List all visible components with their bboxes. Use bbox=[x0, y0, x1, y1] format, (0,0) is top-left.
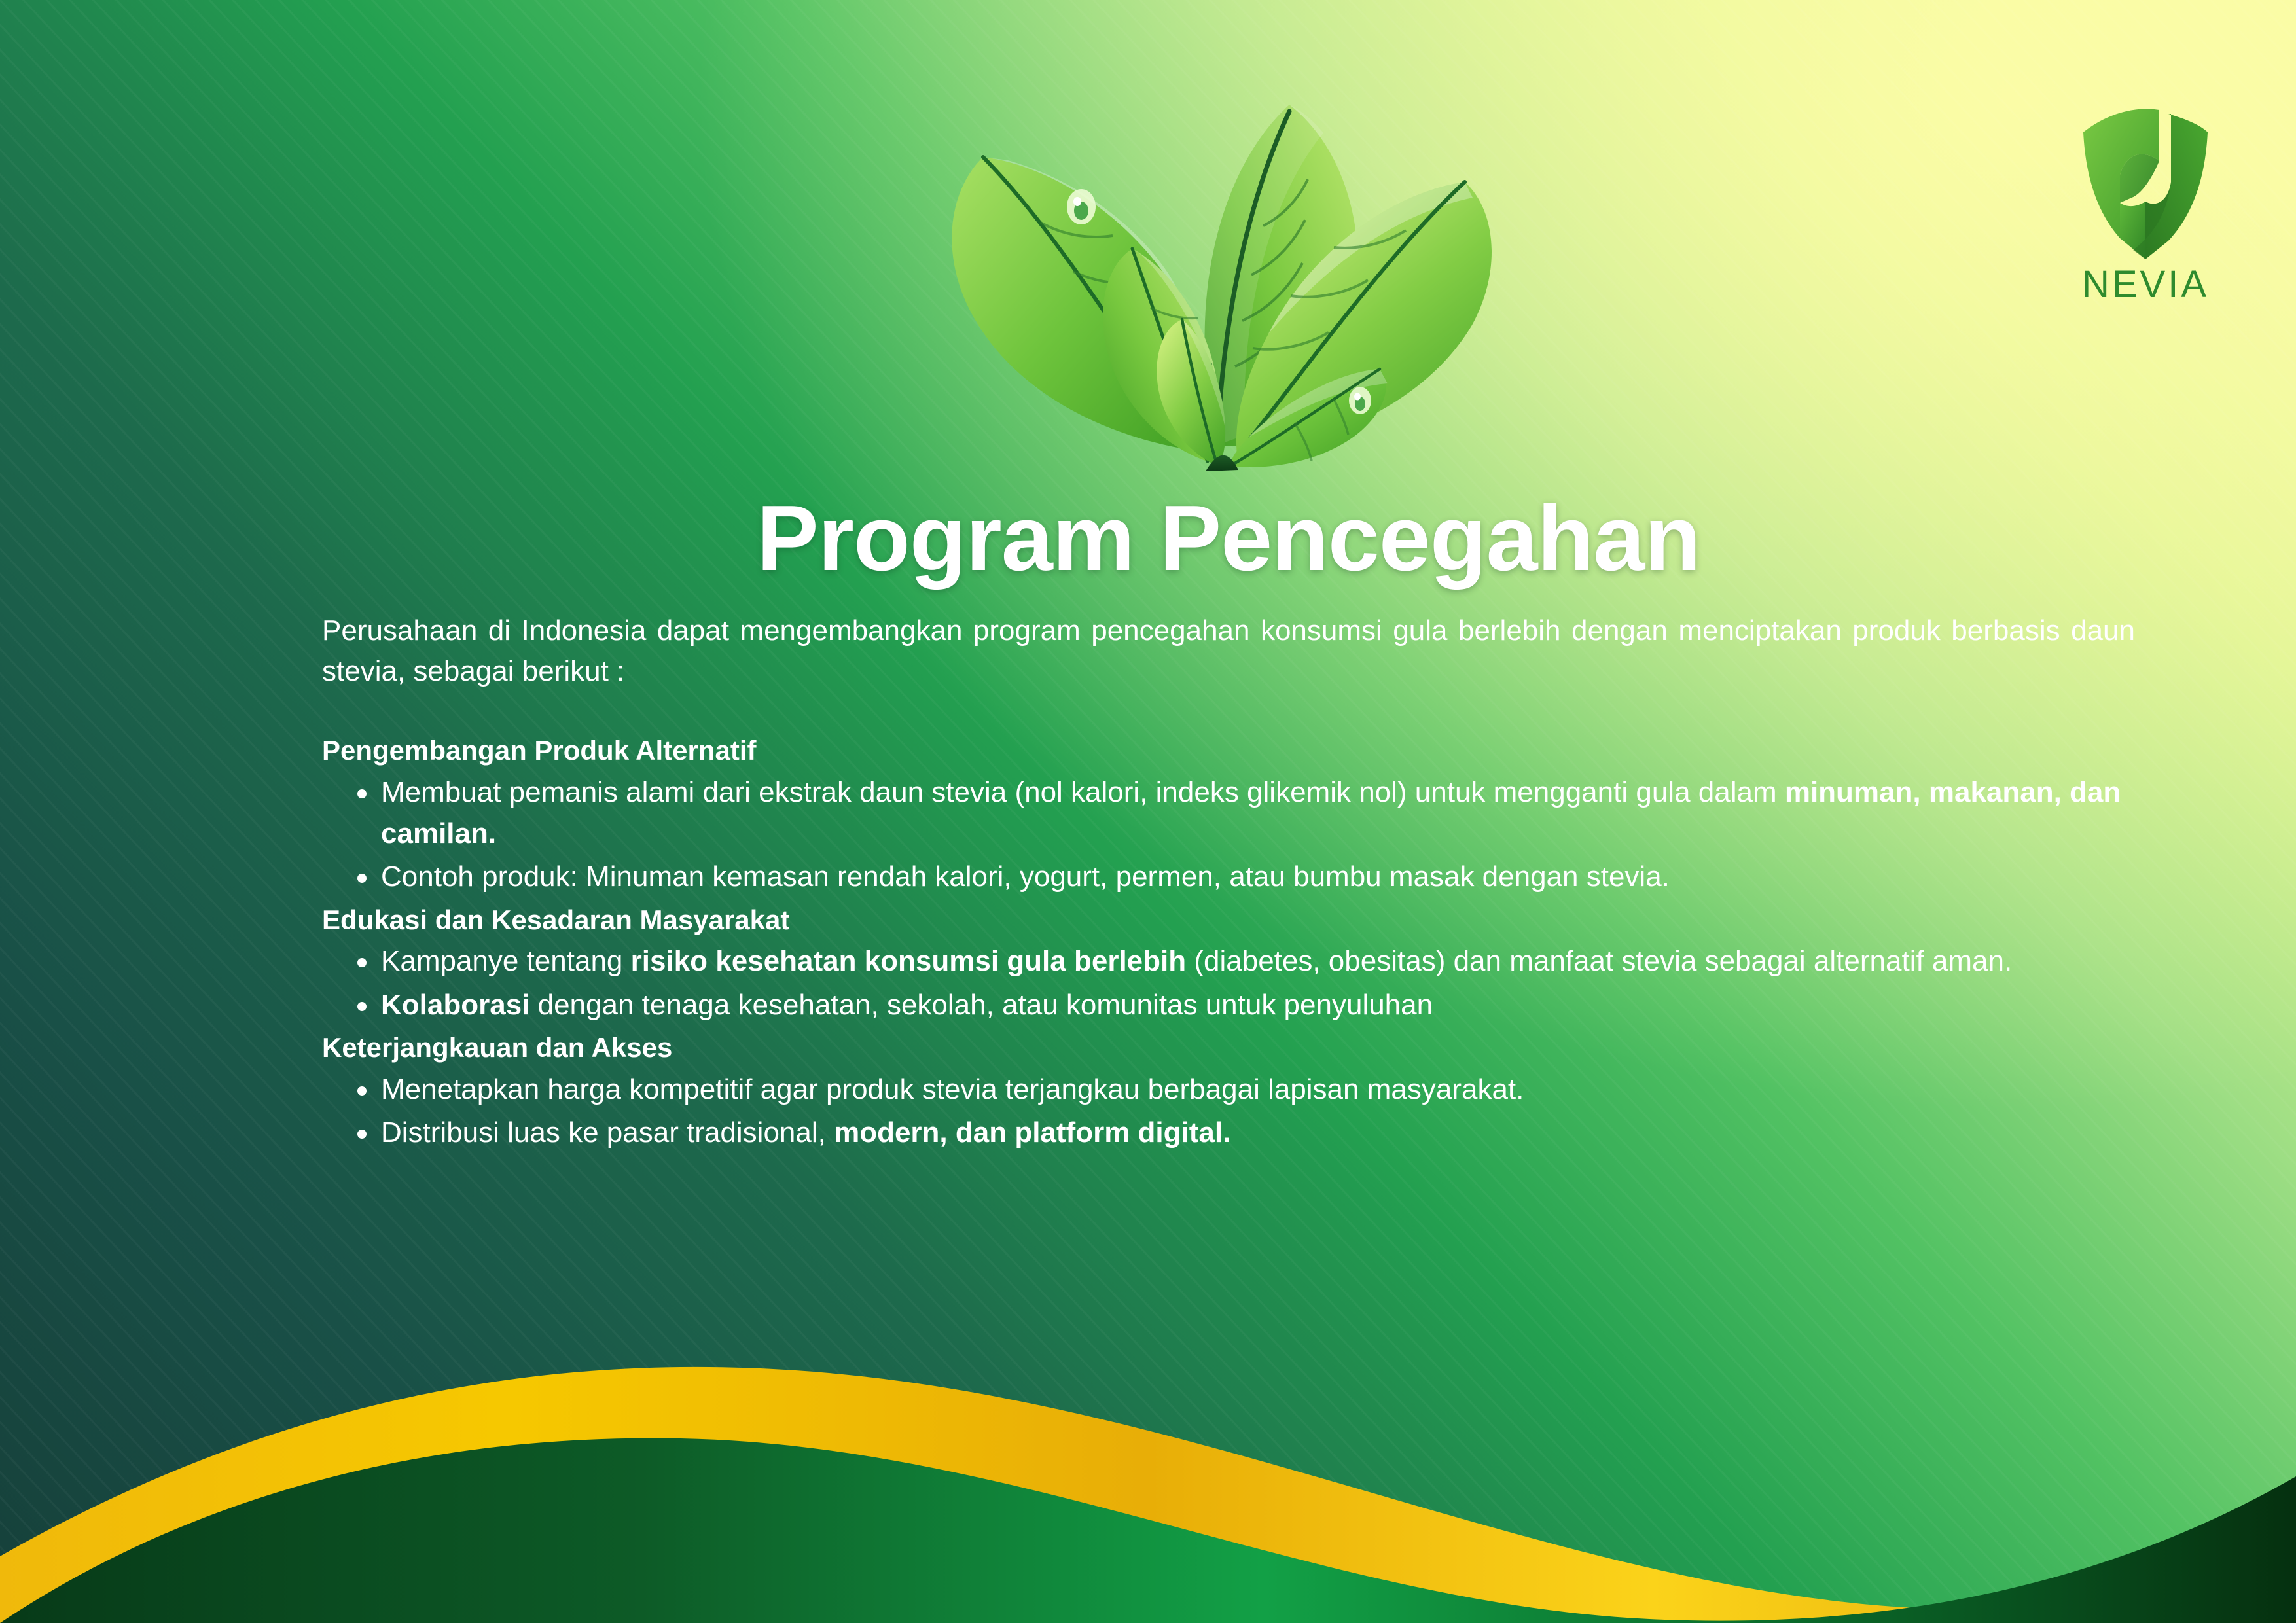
list-item: Contoh produk: Minuman kemasan rendah ka… bbox=[352, 857, 2135, 897]
slide-content: Program Pencegahan Perusahaan di Indones… bbox=[322, 490, 2135, 1158]
stevia-leaves-illustration bbox=[910, 26, 1532, 471]
section-heading: Pengembangan Produk Alternatif bbox=[322, 732, 2135, 770]
bullet-emphasis: Kolaborasi bbox=[381, 989, 529, 1021]
bullet-text: Distribusi luas ke pasar tradisional, bbox=[381, 1116, 834, 1149]
section: Keterjangkauan dan AksesMenetapkan harga… bbox=[322, 1029, 2135, 1154]
shield-n-logo-icon bbox=[2077, 98, 2214, 262]
bottom-wave-decoration bbox=[0, 1348, 2296, 1623]
section: Pengembangan Produk AlternatifMembuat pe… bbox=[322, 732, 2135, 897]
intro-paragraph: Perusahaan di Indonesia dapat mengembang… bbox=[322, 611, 2135, 692]
bullet-emphasis: modern, dan platform digital. bbox=[834, 1116, 1230, 1149]
brand-logo: NEVIA bbox=[2064, 98, 2227, 304]
bullet-list: Membuat pemanis alami dari ekstrak daun … bbox=[322, 772, 2135, 897]
list-item: Kampanye tentang risiko kesehatan konsum… bbox=[352, 941, 2135, 982]
poster-slide: NEVIA Program Pencegahan Perusahaan di I… bbox=[0, 0, 2296, 1623]
bullet-emphasis: risiko kesehatan konsumsi gula berlebih bbox=[631, 945, 1187, 977]
bullet-text: Contoh produk: Minuman kemasan rendah ka… bbox=[381, 861, 1670, 893]
sections-list: Pengembangan Produk AlternatifMembuat pe… bbox=[322, 732, 2135, 1153]
page-title: Program Pencegahan bbox=[322, 490, 2135, 588]
bullet-text: Membuat pemanis alami dari ekstrak daun … bbox=[381, 776, 1785, 808]
list-item: Membuat pemanis alami dari ekstrak daun … bbox=[352, 772, 2135, 854]
section: Edukasi dan Kesadaran MasyarakatKampanye… bbox=[322, 902, 2135, 1026]
intro-line-1: Perusahaan di Indonesia dapat mengembang… bbox=[322, 615, 1668, 647]
bullet-text: Menetapkan harga kompetitif agar produk … bbox=[381, 1073, 1524, 1105]
bullet-text: (diabetes, obesitas) dan manfaat stevia … bbox=[1186, 945, 2012, 977]
list-item: Kolaborasi dengan tenaga kesehatan, seko… bbox=[352, 985, 2135, 1026]
section-heading: Keterjangkauan dan Akses bbox=[322, 1029, 2135, 1067]
bullet-text: dengan tenaga kesehatan, sekolah, atau k… bbox=[529, 989, 1433, 1021]
list-item: Menetapkan harga kompetitif agar produk … bbox=[352, 1069, 2135, 1110]
bullet-list: Menetapkan harga kompetitif agar produk … bbox=[322, 1069, 2135, 1154]
list-item: Distribusi luas ke pasar tradisional, mo… bbox=[352, 1113, 2135, 1153]
bullet-text: Kampanye tentang bbox=[381, 945, 631, 977]
brand-wordmark: NEVIA bbox=[2064, 266, 2227, 304]
section-heading: Edukasi dan Kesadaran Masyarakat bbox=[322, 902, 2135, 939]
bullet-list: Kampanye tentang risiko kesehatan konsum… bbox=[322, 941, 2135, 1026]
